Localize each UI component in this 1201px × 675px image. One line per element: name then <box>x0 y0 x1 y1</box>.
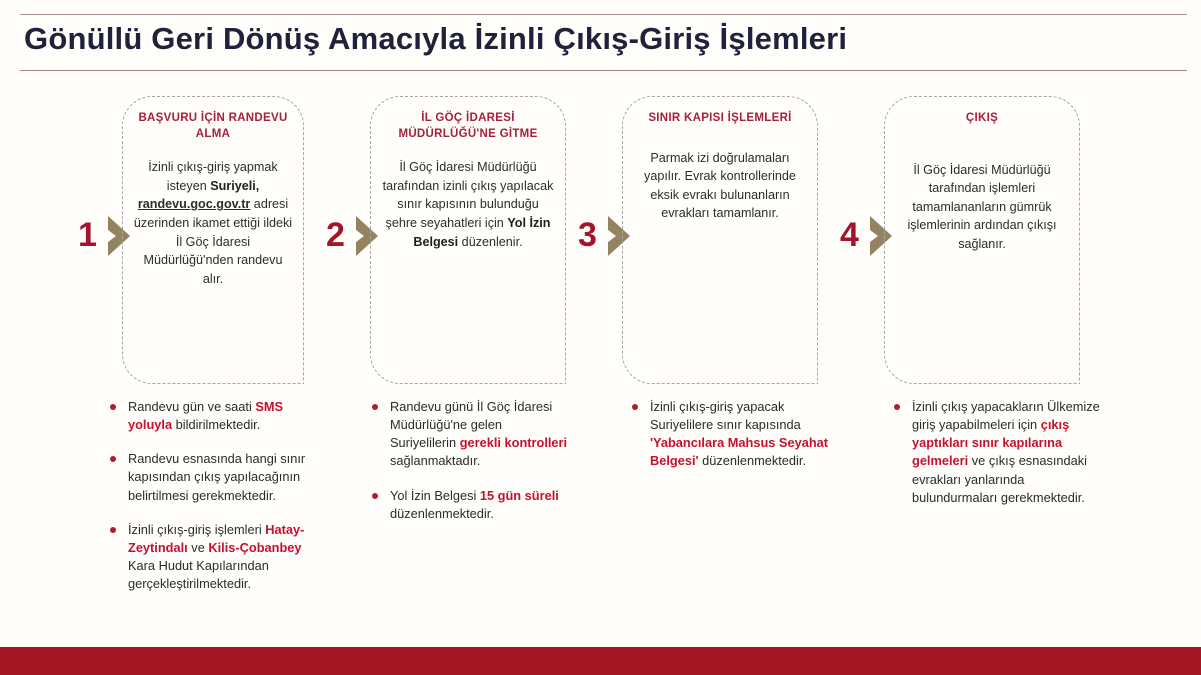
bullet-dot-icon <box>372 404 378 410</box>
bullet-text: İzinli çıkış yapacakların Ülkemize giriş… <box>912 399 1100 505</box>
infographic-page: Gönüllü Geri Dönüş Amacıyla İzinli Çıkış… <box>0 0 1201 675</box>
step-bullets-3: İzinli çıkış-giriş yapacak Suriyelilere … <box>630 398 830 487</box>
bullet-item: Yol İzin Belgesi 15 gün süreli düzenlenm… <box>370 487 570 523</box>
bullet-text: İzinli çıkış-giriş yapacak Suriyelilere … <box>650 399 828 468</box>
bullet-text: Randevu gün ve saati SMS yoluyla bildiri… <box>128 399 283 432</box>
step-heading-3: SINIR KAPISI İŞLEMLERİ <box>633 111 807 127</box>
bullet-dot-icon <box>110 404 116 410</box>
step-card-2: İL GÖÇ İDARESİ MÜDÜRLÜĞÜ'NE GİTME İl Göç… <box>370 96 566 384</box>
step-card-1: BAŞVURU İÇİN RANDEVU ALMA İzinli çıkış-g… <box>122 96 304 384</box>
step-card-3: SINIR KAPISI İŞLEMLERİ Parmak izi doğrul… <box>622 96 818 384</box>
header-rule-bottom <box>20 70 1187 71</box>
bullet-text: Randevu esnasında hangi sınır kapısından… <box>128 451 305 502</box>
step-4: 4 ÇIKIŞ İl Göç İdaresi Müdürlüğü tarafın… <box>836 96 1136 388</box>
bullet-item: İzinli çıkış yapacakların Ülkemize giriş… <box>892 398 1107 507</box>
header-rule-top <box>20 14 1187 15</box>
bullet-dot-icon <box>110 456 116 462</box>
step-number-1: 1 <box>78 218 97 252</box>
bullet-dot-icon <box>632 404 638 410</box>
bullet-dot-icon <box>894 404 900 410</box>
step-bullets-1: Randevu gün ve saati SMS yoluyla bildiri… <box>108 398 318 609</box>
bullet-text: İzinli çıkış-giriş işlemleri Hatay-Zeyti… <box>128 522 304 591</box>
step-number-4: 4 <box>840 218 859 252</box>
bullet-item: Randevu günü İl Göç İdaresi Müdürlüğü'ne… <box>370 398 570 471</box>
step-heading-1: BAŞVURU İÇİN RANDEVU ALMA <box>133 111 293 142</box>
bullet-item: İzinli çıkış-giriş yapacak Suriyelilere … <box>630 398 830 471</box>
step-column-3: 3 SINIR KAPISI İŞLEMLERİ Parmak izi doğr… <box>574 96 874 388</box>
step-bullets-4: İzinli çıkış yapacakların Ülkemize giriş… <box>892 398 1107 523</box>
step-body-2: İl Göç İdaresi Müdürlüğü tarafından izin… <box>381 158 555 251</box>
bullet-item: Randevu esnasında hangi sınır kapısından… <box>108 450 318 504</box>
bullet-dot-icon <box>372 493 378 499</box>
step-column-4: 4 ÇIKIŞ İl Göç İdaresi Müdürlüğü tarafın… <box>836 96 1136 388</box>
steps-container: 1 BAŞVURU İÇİN RANDEVU ALMA İzinli çıkış… <box>0 96 1201 656</box>
step-body-4: İl Göç İdaresi Müdürlüğü tarafından işle… <box>895 161 1069 254</box>
step-number-2: 2 <box>326 218 345 252</box>
footer-bar <box>0 647 1201 675</box>
step-number-3: 3 <box>578 218 597 252</box>
bullet-text: Randevu günü İl Göç İdaresi Müdürlüğü'ne… <box>390 399 567 468</box>
bullet-dot-icon <box>110 527 116 533</box>
step-body-1: İzinli çıkış-giriş yapmak isteyen Suriye… <box>133 158 293 288</box>
step-3: 3 SINIR KAPISI İŞLEMLERİ Parmak izi doğr… <box>574 96 874 388</box>
step-heading-2: İL GÖÇ İDARESİ MÜDÜRLÜĞÜ'NE GİTME <box>381 111 555 142</box>
bullet-text: Yol İzin Belgesi 15 gün süreli düzenlenm… <box>390 488 559 521</box>
bullet-item: İzinli çıkış-giriş işlemleri Hatay-Zeyti… <box>108 521 318 594</box>
page-title: Gönüllü Geri Dönüş Amacıyla İzinli Çıkış… <box>24 21 847 57</box>
step-bullets-2: Randevu günü İl Göç İdaresi Müdürlüğü'ne… <box>370 398 570 539</box>
bullet-item: Randevu gün ve saati SMS yoluyla bildiri… <box>108 398 318 434</box>
step-heading-4: ÇIKIŞ <box>895 111 1069 127</box>
step-card-4: ÇIKIŞ İl Göç İdaresi Müdürlüğü tarafında… <box>884 96 1080 384</box>
step-body-3: Parmak izi doğrulamaları yapılır. Evrak … <box>633 149 807 224</box>
